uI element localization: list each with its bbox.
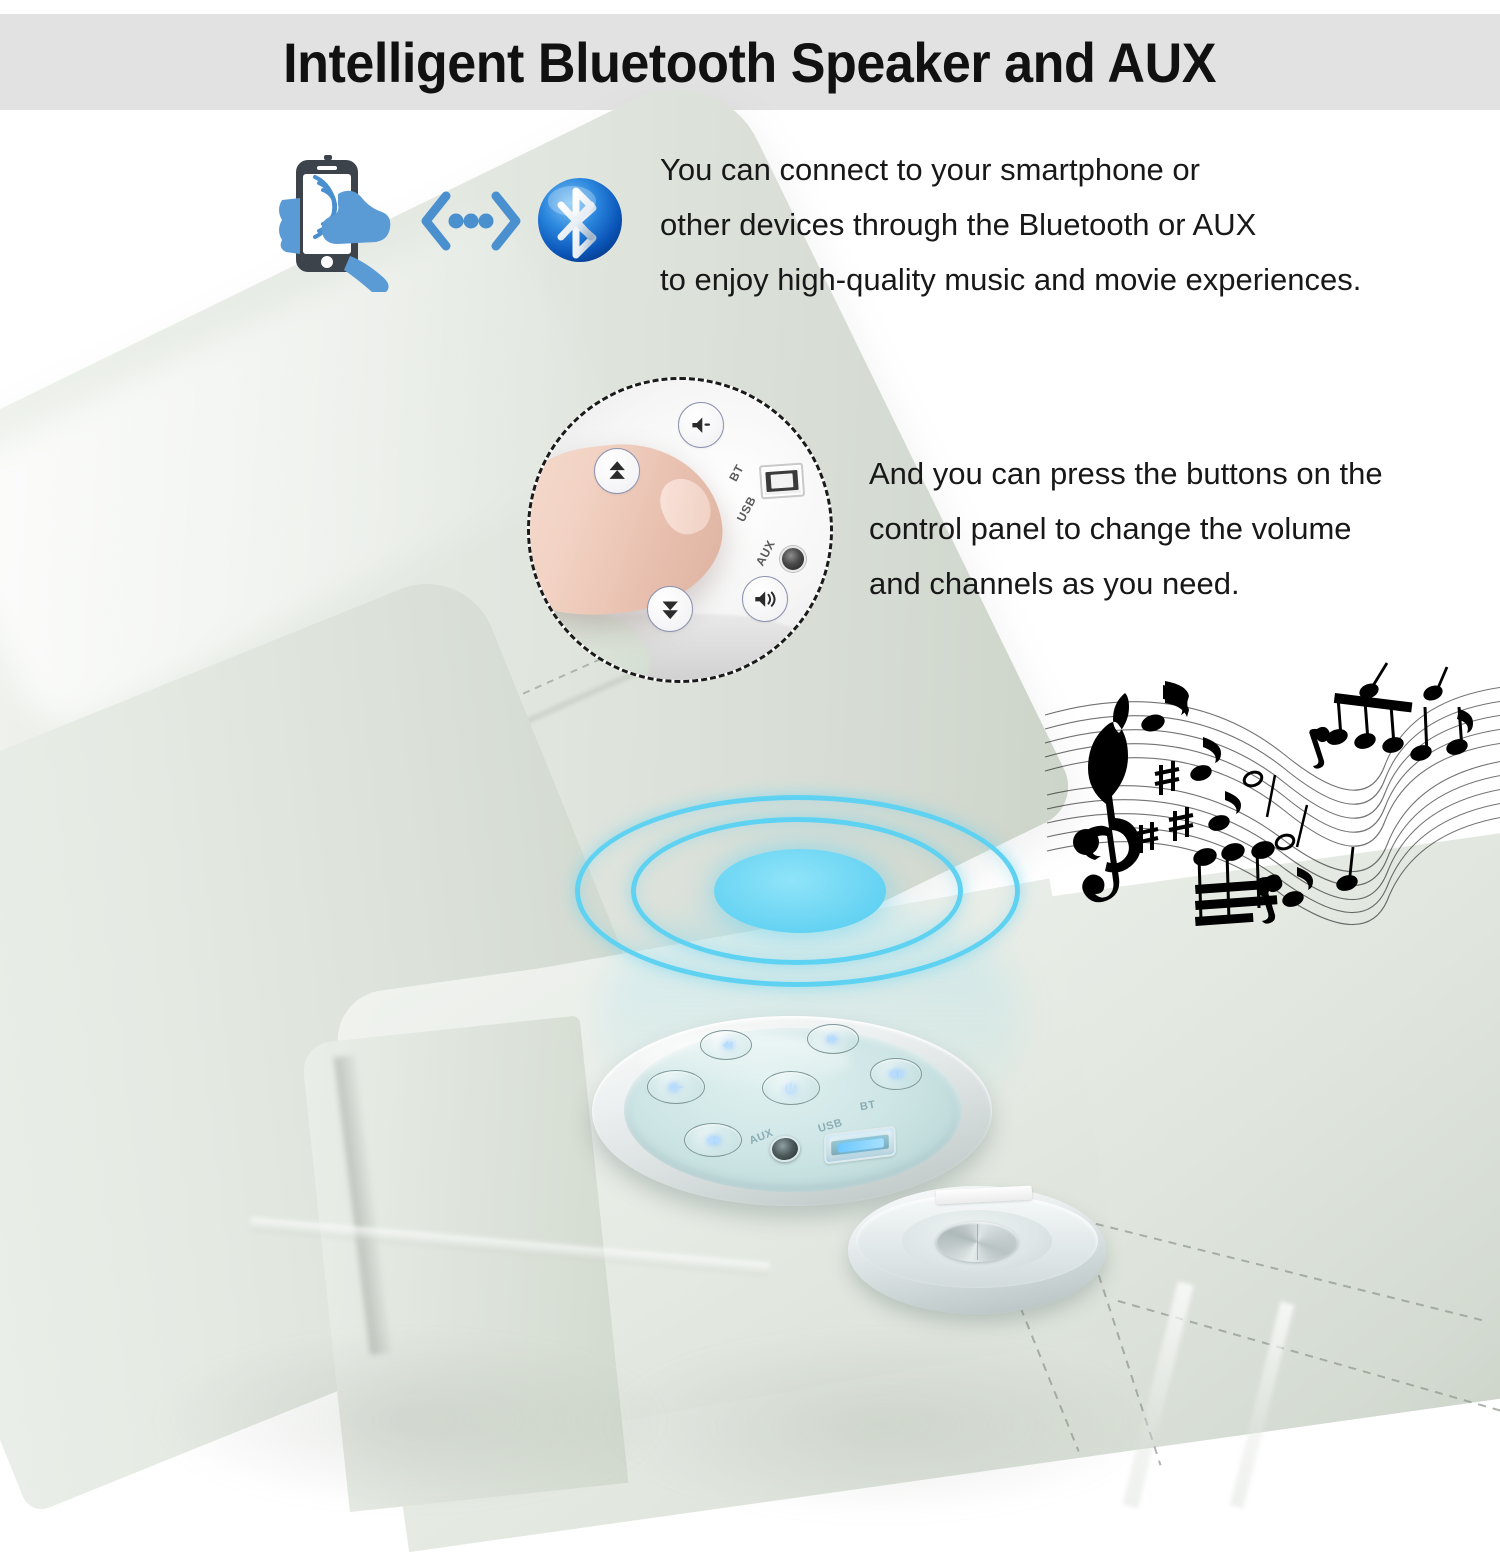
next-track-button[interactable] [807, 1024, 859, 1054]
sound-wave-emission [575, 795, 1020, 1035]
control-panel-closeup-inset: BT USB AUX [527, 377, 833, 683]
control-panel-description-line-3: and channels as you need. [869, 556, 1383, 611]
bluetooth-description-line-1: You can connect to your smartphone or [660, 142, 1361, 197]
cup-holder-hub [936, 1222, 1018, 1262]
inset-volume-up-button[interactable] [742, 576, 788, 622]
bluetooth-description-line-2: other devices through the Bluetooth or A… [660, 197, 1361, 252]
bluetooth-description-line-3: to enjoy high-quality music and movie ex… [660, 252, 1361, 307]
seat-soft-shadow [150, 1330, 670, 1510]
bluetooth-description-text: You can connect to your smartphone or ot… [660, 142, 1361, 307]
infographic-stage: Intelligent Bluetooth Speaker and AUX [0, 0, 1500, 1500]
connectivity-icon-group [268, 148, 618, 298]
cup-holder [848, 1186, 1106, 1314]
rewind-button[interactable] [684, 1123, 742, 1157]
volume-down-button[interactable] [647, 1070, 705, 1104]
previous-track-button[interactable] [700, 1030, 752, 1060]
control-panel-description-line-1: And you can press the buttons on the [869, 446, 1383, 501]
volume-up-button[interactable] [870, 1058, 922, 1090]
control-panel-description-line-2: control panel to change the volume [869, 501, 1383, 556]
inset-skip-down-button[interactable] [647, 586, 693, 632]
power-button[interactable] [762, 1071, 820, 1105]
inset-aux-jack[interactable] [780, 546, 806, 572]
inset-usb-port[interactable] [759, 463, 805, 500]
seat-soft-shadow [600, 1330, 1160, 1520]
inset-volume-down-button[interactable] [678, 402, 724, 448]
inset-skip-up-button[interactable] [594, 448, 640, 494]
music-staff-notes [1035, 645, 1500, 940]
bluetooth-logo-icon [535, 175, 625, 265]
control-panel-description-text: And you can press the buttons on the con… [869, 446, 1383, 611]
smartphone-touch-icon [276, 152, 396, 292]
sound-wave-core [714, 849, 886, 933]
inset-photo: BT USB AUX [530, 380, 830, 680]
connection-arrows-icon [416, 186, 526, 256]
